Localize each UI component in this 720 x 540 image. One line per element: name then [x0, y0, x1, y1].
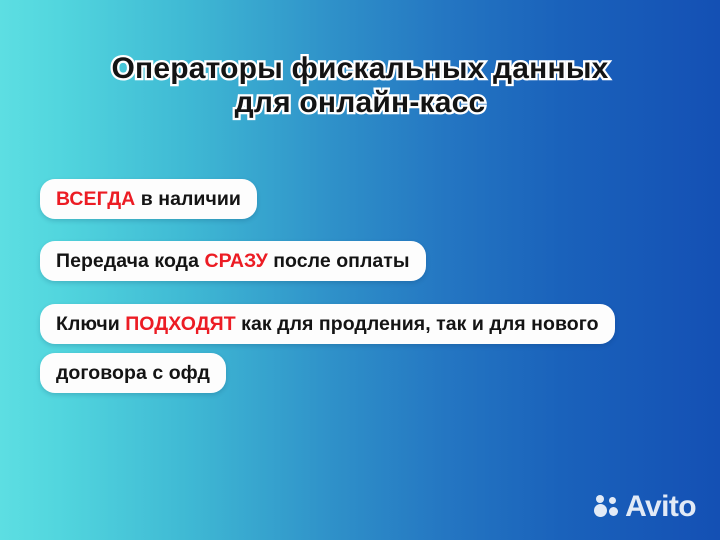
feature-badge-instant-delivery: Передача кода СРАЗУ после оплаты — [40, 238, 688, 286]
highlight-podhodyat: ПОДХОДЯТ — [125, 313, 235, 335]
avito-watermark: Avito — [594, 492, 696, 522]
avito-dots-icon — [594, 495, 620, 519]
feature-badge-instant-delivery-text: Передача кода СРАЗУ после оплаты — [40, 241, 426, 281]
badge-delivery-prefix: Передача кода — [56, 250, 204, 272]
page-title: Операторы фискальных данных для онлайн-к… — [0, 52, 720, 119]
highlight-vsegda: ВСЕГДА — [56, 188, 135, 210]
badge-availability-rest: в наличии — [135, 188, 241, 210]
page-title-line-1: Операторы фискальных данных — [0, 52, 720, 86]
page-title-line-2: для онлайн-касс — [0, 86, 720, 120]
avito-wordmark: Avito — [625, 492, 696, 522]
feature-badge-keys-compatibility: Ключи ПОДХОДЯТ как для продления, так и … — [40, 300, 688, 399]
feature-badge-availability-text: ВСЕГДА в наличии — [40, 179, 257, 219]
feature-badge-availability: ВСЕГДА в наличии — [40, 176, 688, 224]
feature-badge-keys-compatibility-text: Ключи ПОДХОДЯТ как для продления, так и … — [40, 304, 615, 394]
feature-badge-list: ВСЕГДА в наличии Передача кода СРАЗУ пос… — [40, 176, 688, 413]
badge-delivery-suffix: после оплаты — [268, 250, 410, 272]
badge-keys-prefix: Ключи — [56, 313, 125, 335]
highlight-srazu: СРАЗУ — [204, 250, 267, 272]
promo-banner: Операторы фискальных данных для онлайн-к… — [0, 0, 720, 540]
